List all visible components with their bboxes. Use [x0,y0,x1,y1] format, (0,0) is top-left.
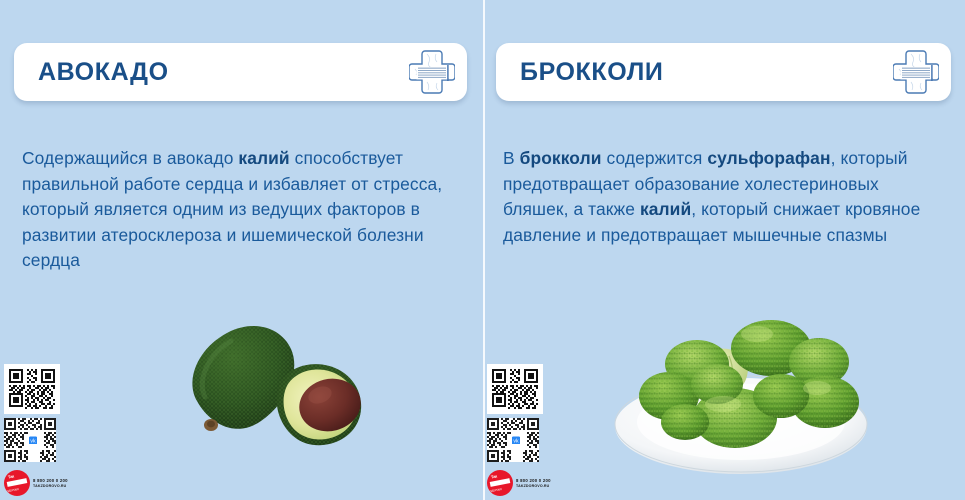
contact-row: Так ЗДОРОВО 8 800 200 0 200 TAKZDOROVO.R… [4,470,68,496]
highlighted-term: калий [640,199,691,219]
panel-avocado: АВОКАДО [0,0,483,500]
broccoli-illustration [611,300,871,480]
highlighted-term: сульфорафан [707,148,830,168]
qr-contact-stack-avocado: vk Так ЗДОРОВО 8 800 200 0 200 TAKZDOROV… [4,364,66,496]
badge-top-text: Так [491,474,498,480]
body-text-broccoli: В брокколи содержится сульфорафан, котор… [503,146,943,248]
body-text-avocado: Содержащийся в авокадо калий способствуе… [22,146,472,274]
qr-code-vk[interactable]: vk [4,418,60,466]
panel-divider [483,0,485,500]
contact-phone: 8 800 200 0 200 [516,478,551,483]
qr-code-primary[interactable] [487,364,543,414]
highlighted-term: калий [238,148,289,168]
badge-bottom-text: ЗДОРОВО [7,488,19,493]
contact-lines: 8 800 200 0 200 TAKZDOROVO.RU [33,478,68,488]
badge-bar [490,478,511,487]
takzdorovo-logo: Так ЗДОРОВО [4,470,30,496]
header-card-broccoli: БРОККОЛИ [496,43,951,101]
page-title: БРОККОЛИ [520,60,893,85]
slide-stage: АВОКАДО [0,0,965,500]
qr-code-primary[interactable] [4,364,60,414]
contact-lines: 8 800 200 0 200 TAKZDOROVO.RU [516,478,551,488]
header-card-avocado: АВОКАДО [14,43,467,101]
takzdorovo-logo: Так ЗДОРОВО [487,470,513,496]
svg-text:vk: vk [513,438,519,444]
panel-broccoli: БРОККОЛИ [483,0,965,500]
badge-bottom-text: ЗДОРОВО [490,488,502,493]
qr-code-vk[interactable]: vk [487,418,543,466]
contact-site: TAKZDOROVO.RU [516,484,551,488]
badge-top-text: Так [8,474,15,480]
page-title: АВОКАДО [38,60,409,85]
badge-bar [7,478,28,487]
medical-cross-emblem [893,48,939,96]
contact-phone: 8 800 200 0 200 [33,478,68,483]
medical-cross-emblem [409,48,455,96]
highlighted-term: брокколи [520,148,602,168]
contact-site: TAKZDOROVO.RU [33,484,68,488]
qr-contact-stack-broccoli: vk Так ЗДОРОВО 8 800 200 0 200 TAKZDOROV… [487,364,549,496]
contact-row: Так ЗДОРОВО 8 800 200 0 200 TAKZDOROVO.R… [487,470,551,496]
avocado-illustration [175,305,370,460]
svg-text:vk: vk [30,438,36,444]
